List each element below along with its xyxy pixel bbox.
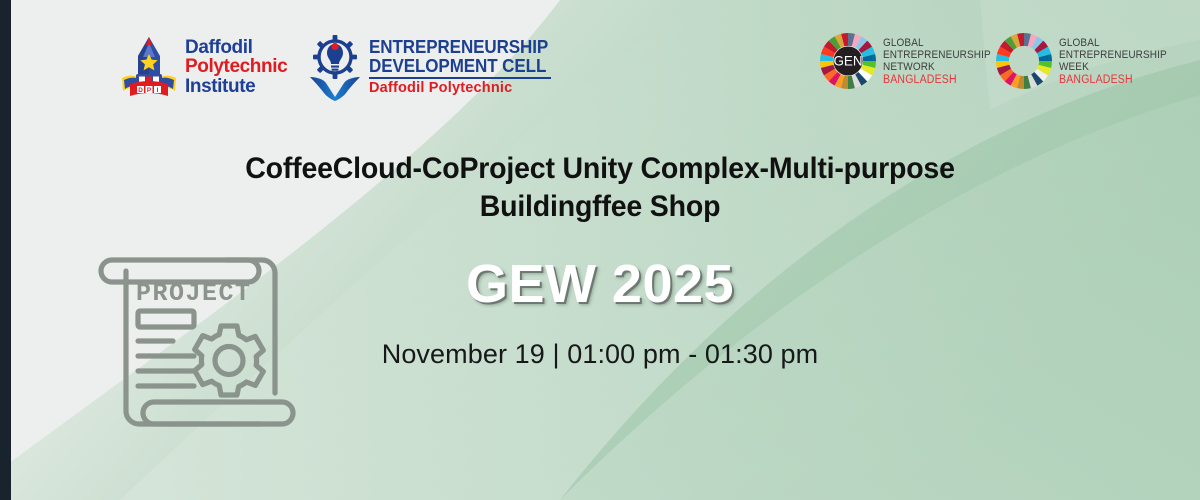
event-datetime: November 19 | 01:00 pm - 01:30 pm xyxy=(200,339,1000,370)
dpi-wordmark: Daffodil Polytechnic Institute xyxy=(185,38,287,96)
svg-text:I: I xyxy=(157,87,159,94)
gen-country: BANGLADESH xyxy=(883,74,991,86)
gew-country: BANGLADESH xyxy=(1059,74,1167,86)
edc-line-2: DEVELOPMENT CELL xyxy=(369,57,548,76)
logo-dpi: D P I Daffodil Polytechnic Institute xyxy=(120,34,287,100)
gen-line-1: GLOBAL xyxy=(883,38,991,49)
svg-text:P: P xyxy=(147,87,152,94)
gew-line-3: WEEK xyxy=(1059,62,1167,73)
gen-wordmark: GLOBAL ENTREPRENEURSHIP NETWORK BANGLADE… xyxy=(883,38,991,85)
svg-text:D: D xyxy=(138,87,143,94)
content-block: CoffeeCloud-CoProject Unity Complex-Mult… xyxy=(200,150,1000,370)
logo-row: D P I Daffodil Polytechnic Institute xyxy=(0,0,1200,120)
left-edge-strip xyxy=(0,0,11,500)
gen-line-3: NETWORK xyxy=(883,62,991,73)
svg-text:GEN: GEN xyxy=(833,53,862,68)
event-banner: D P I Daffodil Polytechnic Institute xyxy=(0,0,1200,500)
edc-wordmark: ENTREPRENEURSHIP DEVELOPMENT CELL Daffod… xyxy=(369,38,564,96)
gew-heading: GEW 2025 xyxy=(200,253,1000,315)
dpi-crest-icon: D P I xyxy=(120,34,178,100)
gen-line-2: ENTREPRENEURSHIP xyxy=(883,50,991,61)
logo-gew: GLOBAL ENTREPRENEURSHIP WEEK BANGLADESH xyxy=(996,33,1167,89)
dpi-line-3: Institute xyxy=(185,77,287,96)
dpi-line-2: Polytechnic xyxy=(185,57,287,76)
gew-wordmark: GLOBAL ENTREPRENEURSHIP WEEK BANGLADESH xyxy=(1059,38,1167,85)
edc-bulb-gear-icon xyxy=(308,33,362,101)
logo-edc: ENTREPRENEURSHIP DEVELOPMENT CELL Daffod… xyxy=(308,33,564,101)
gew-line-2: ENTREPRENEURSHIP xyxy=(1059,50,1167,61)
logo-gen: GEN GLOBAL ENTREPRENEURSHIP NETWORK BANG… xyxy=(820,33,991,89)
gen-color-wheel-icon: GEN xyxy=(820,33,876,89)
edc-divider xyxy=(369,77,551,79)
dpi-line-1: Daffodil xyxy=(185,38,287,57)
event-title: CoffeeCloud-CoProject Unity Complex-Mult… xyxy=(220,150,980,227)
edc-line-3: Daffodil Polytechnic xyxy=(369,81,564,96)
gew-color-ring-icon xyxy=(996,33,1052,89)
gew-line-1: GLOBAL xyxy=(1059,38,1167,49)
